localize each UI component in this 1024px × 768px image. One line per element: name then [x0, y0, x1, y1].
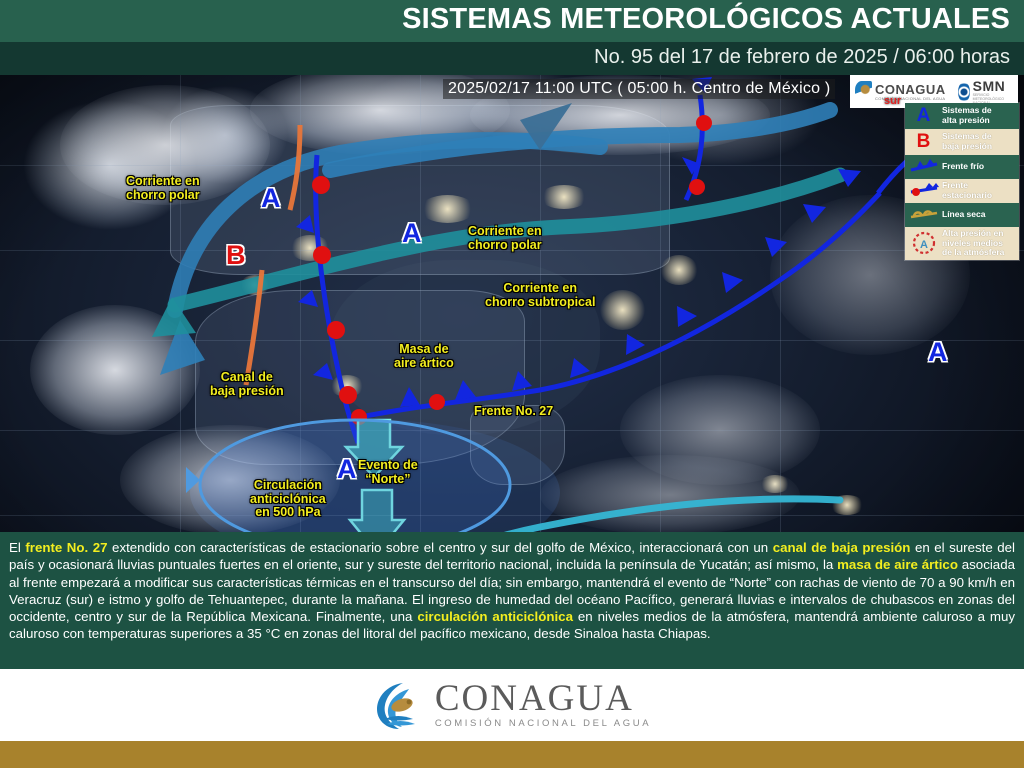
- conagua-logo-word: CONAGUA: [875, 83, 946, 96]
- map-label-frente-no-27: Frente No. 27: [474, 405, 553, 419]
- legend-label: Línea seca: [940, 210, 985, 220]
- map-label-corriente-chorro-subtropical: Corriente en chorro subtropical: [485, 282, 595, 309]
- pressure-mark-alta-presion-centro: A: [402, 218, 422, 249]
- summary-text-run: El: [9, 540, 25, 555]
- conagua-footer-logo: CONAGUA COMISIÓN NACIONAL DEL AGUA: [373, 677, 651, 733]
- map-label-canal-baja-presion: Canal de baja presión: [210, 371, 284, 398]
- stationary-front-icon: [907, 183, 940, 199]
- map-legend: ASistemas de alta presiónBSistemas de ba…: [904, 102, 1020, 261]
- map-label-corriente-chorro-polar-este: Corriente en chorro polar: [468, 225, 542, 252]
- stationary-front-triangles: [296, 215, 333, 380]
- legend-row-letter-a: ASistemas de alta presión: [905, 103, 1019, 129]
- legend-label: Sistemas de alta presión: [940, 106, 992, 125]
- dry-line-icon: [907, 207, 940, 223]
- legend-row-mid-level-high-icon: AAlta presión en niveles medios de la at…: [905, 227, 1019, 260]
- highlighted-term: masa de aire ártico: [837, 557, 958, 572]
- map-label-evento-de-norte: Evento de “Norte”: [358, 459, 418, 486]
- footer-logo-word: CONAGUA: [435, 681, 651, 716]
- legend-row-stationary-front-icon: Frente estacionario: [905, 179, 1019, 203]
- smn-logo: SMN SERVICIO METEOROLÓGICO NACIONAL: [958, 79, 1014, 105]
- stationary-front-symbols: [312, 176, 357, 404]
- svg-text:A: A: [920, 239, 928, 251]
- pressure-mark-alta-presion-pacifico: A: [337, 454, 357, 485]
- bulletin-date: No. 95 del 17 de febrero de 2025 / 06:00…: [594, 46, 1010, 69]
- forecast-summary-text: El frente No. 27 extendido con caracterí…: [9, 539, 1015, 643]
- pressure-mark-baja-presion-oeste: B: [226, 240, 246, 271]
- pressure-mark-alta-presion-atlantico: A: [928, 337, 948, 368]
- smn-logo-word: SMN: [973, 79, 1014, 93]
- sur-label: sur: [884, 95, 901, 107]
- mid-level-high-icon: A: [907, 231, 940, 255]
- legend-row-cold-front-icon: Frente frío: [905, 155, 1019, 179]
- legend-label: Frente frío: [940, 162, 984, 172]
- highlighted-term: circulación anticiclónica: [417, 609, 573, 624]
- legend-row-letter-b: BSistemas de baja presión: [905, 129, 1019, 155]
- highlighted-term: frente No. 27: [25, 540, 107, 555]
- forecast-summary-block: El frente No. 27 extendido con caracterí…: [0, 532, 1024, 669]
- map-timestamp: 2025/02/17 11:00 UTC ( 05:00 h. Centro d…: [443, 79, 835, 99]
- footer-logo-area: CONAGUA COMISIÓN NACIONAL DEL AGUA: [0, 669, 1024, 741]
- page-title: SISTEMAS METEOROLÓGICOS ACTUALES: [402, 3, 1010, 36]
- letter-a: A: [907, 105, 940, 127]
- legend-label: Alta presión en niveles medios de la atm…: [940, 229, 1004, 258]
- legend-label: Sistemas de baja presión: [940, 132, 992, 151]
- highlighted-term: canal de baja presión: [773, 540, 911, 555]
- weather-bulletin-page: SISTEMAS METEOROLÓGICOS ACTUALES No. 95 …: [0, 0, 1024, 768]
- legend-row-dry-line-icon: Línea seca: [905, 203, 1019, 227]
- header-subband: No. 95 del 17 de febrero de 2025 / 06:00…: [0, 42, 1024, 75]
- cold-front-icon: [907, 159, 940, 175]
- conagua-eagle-icon: [855, 81, 872, 103]
- map-label-masa-aire-artico: Masa de aire ártico: [394, 343, 454, 370]
- map-label-corriente-chorro-polar-oeste: Corriente en chorro polar: [126, 175, 200, 202]
- footer-gold-bar: [0, 741, 1024, 768]
- legend-label: Frente estacionario: [940, 181, 992, 200]
- satellite-map[interactable]: 2025/02/17 11:00 UTC ( 05:00 h. Centro d…: [0, 75, 1024, 532]
- pressure-mark-alta-presion-norte: A: [261, 183, 281, 214]
- footer-logo-sub: COMISIÓN NACIONAL DEL AGUA: [435, 718, 651, 729]
- letter-b: B: [907, 131, 940, 153]
- conagua-eagle-water-icon: [373, 677, 425, 733]
- map-label-circulacion-anticiclonica: Circulación anticiclónica en 500 hPa: [250, 479, 326, 520]
- header-band: SISTEMAS METEOROLÓGICOS ACTUALES: [0, 0, 1024, 42]
- smn-sun-icon: [958, 82, 970, 102]
- summary-text-run: extendido con características de estacio…: [108, 540, 773, 555]
- cold-front-triangles: [400, 169, 861, 407]
